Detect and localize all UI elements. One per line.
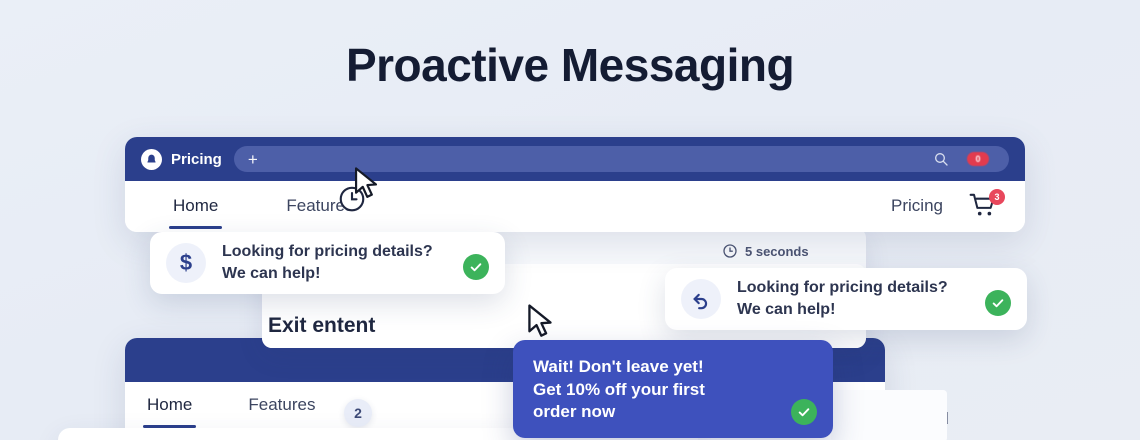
- timer-label: 5 seconds: [745, 244, 809, 259]
- main-nav-row: Home Features Pricing 3: [125, 181, 1025, 232]
- nav-link-pricing[interactable]: Pricing: [891, 184, 943, 229]
- browser-topbar: Pricing + 0: [125, 137, 1025, 181]
- browser-tab-title[interactable]: Pricing: [171, 151, 222, 168]
- timer-chip: 5 seconds: [722, 243, 809, 259]
- message-line-2: We can help!: [222, 263, 451, 285]
- promo-text: Wait! Don't leave yet! Get 10% off your …: [533, 356, 813, 424]
- clock-icon: [722, 243, 738, 259]
- search-icon[interactable]: [933, 151, 949, 167]
- bottom-nav-link-features[interactable]: Features: [248, 383, 315, 428]
- cursor-on-new-tab: [352, 166, 382, 200]
- page-title: Proactive Messaging: [0, 38, 1140, 92]
- proactive-message-card-right[interactable]: Looking for pricing details? We can help…: [665, 268, 1027, 330]
- check-circle-icon: [985, 290, 1011, 316]
- promo-line-3: order now: [533, 401, 813, 424]
- bell-circle-icon: [141, 149, 162, 170]
- promo-message-card[interactable]: Wait! Don't leave yet! Get 10% off your …: [513, 340, 833, 438]
- exit-intent-label: Exit entent: [268, 314, 375, 338]
- notification-badge[interactable]: 0: [967, 152, 989, 166]
- bottom-nav-link-home[interactable]: Home: [147, 383, 192, 428]
- proactive-message-card-left[interactable]: $ Looking for pricing details? We can he…: [150, 232, 505, 294]
- new-tab-button[interactable]: +: [248, 151, 258, 168]
- cursor-on-page: [525, 303, 557, 339]
- nav-link-home[interactable]: Home: [173, 184, 218, 229]
- message-line-1: Looking for pricing details?: [222, 243, 433, 260]
- promo-line-2: Get 10% off your first: [533, 379, 813, 402]
- screenshot-stage: Proactive Messaging Home Features 2 Exit…: [0, 0, 1140, 440]
- message-text-right: Looking for pricing details? We can help…: [737, 277, 973, 320]
- step-badge-2: 2: [344, 399, 372, 427]
- shopping-cart-icon[interactable]: 3: [969, 192, 1003, 222]
- occluding-white-sheet: [831, 390, 947, 440]
- check-circle-icon: [791, 399, 817, 425]
- browser-window-main: Pricing + 0 Home Features Pricing: [125, 137, 1025, 232]
- cart-count-badge: 3: [989, 189, 1005, 205]
- message-line-2: We can help!: [737, 299, 973, 321]
- message-text-left: Looking for pricing details? We can help…: [222, 241, 451, 284]
- undo-arrow-icon: [681, 279, 721, 319]
- promo-line-1: Wait! Don't leave yet!: [533, 356, 813, 379]
- dollar-sign-icon: $: [166, 243, 206, 283]
- check-circle-icon: [463, 254, 489, 280]
- message-line-1: Looking for pricing details?: [737, 279, 948, 296]
- browser-url-pill[interactable]: + 0: [234, 146, 1009, 172]
